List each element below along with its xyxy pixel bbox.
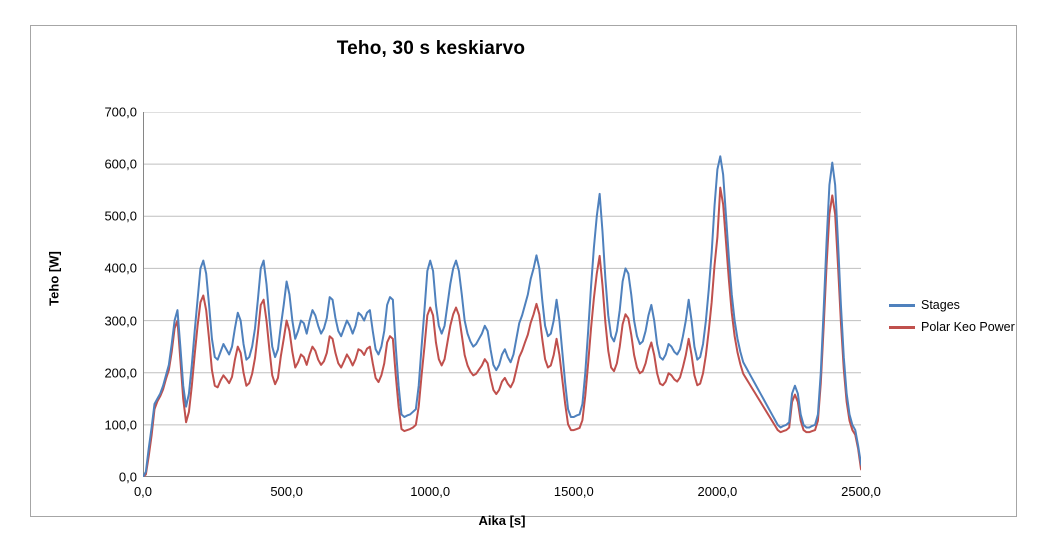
legend-color-swatch bbox=[889, 304, 915, 307]
chart-frame: Teho, 30 s keskiarvo Teho [W] 0,0100,020… bbox=[30, 25, 1017, 517]
x-tick-label: 1500,0 bbox=[514, 484, 634, 499]
y-tick-label: 500,0 bbox=[67, 209, 137, 224]
y-tick-label: 700,0 bbox=[67, 105, 137, 120]
y-tick-label: 600,0 bbox=[67, 157, 137, 172]
chart-page: Teho, 30 s keskiarvo Teho [W] 0,0100,020… bbox=[0, 0, 1050, 550]
chart-legend: StagesPolar Keo Power bbox=[889, 294, 1014, 338]
x-tick-label: 1000,0 bbox=[370, 484, 490, 499]
legend-label: Stages bbox=[921, 298, 960, 312]
x-axis-ticks: 0,0500,01000,01500,02000,02500,0 bbox=[143, 484, 861, 506]
y-tick-label: 0,0 bbox=[67, 470, 137, 485]
legend-item[interactable]: Stages bbox=[889, 294, 1014, 316]
x-tick-label: 500,0 bbox=[227, 484, 347, 499]
x-tick-label: 0,0 bbox=[83, 484, 203, 499]
legend-color-swatch bbox=[889, 326, 915, 329]
plot-area bbox=[143, 112, 861, 477]
y-axis-ticks: 0,0100,0200,0300,0400,0500,0600,0700,0 bbox=[63, 112, 137, 477]
y-axis-title: Teho [W] bbox=[47, 234, 62, 324]
legend-label: Polar Keo Power bbox=[921, 320, 1015, 334]
y-tick-label: 100,0 bbox=[67, 417, 137, 432]
x-tick-label: 2500,0 bbox=[801, 484, 921, 499]
y-tick-label: 200,0 bbox=[67, 365, 137, 380]
x-axis-title: Aika [s] bbox=[143, 513, 861, 528]
series-line-stages bbox=[143, 156, 861, 477]
x-tick-label: 2000,0 bbox=[657, 484, 777, 499]
series-line-polar-keo-power bbox=[143, 188, 861, 477]
plot-svg bbox=[143, 112, 861, 477]
chart-title: Teho, 30 s keskiarvo bbox=[31, 38, 831, 60]
y-tick-label: 400,0 bbox=[67, 261, 137, 276]
legend-item[interactable]: Polar Keo Power bbox=[889, 316, 1014, 338]
y-tick-label: 300,0 bbox=[67, 313, 137, 328]
